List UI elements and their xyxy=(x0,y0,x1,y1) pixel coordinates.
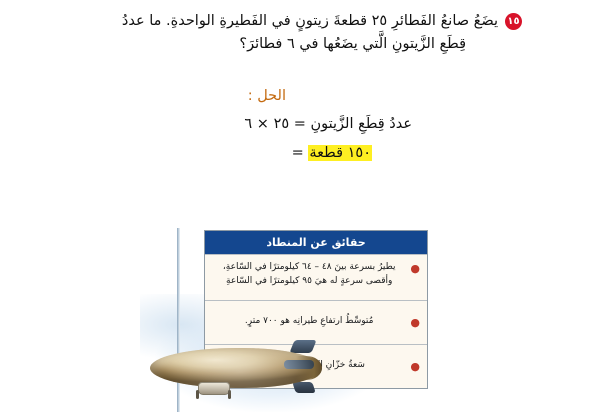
airship-fin-top xyxy=(289,340,316,353)
facts-panel-header: حقائق عن المنطاد xyxy=(205,231,427,254)
problem-line-2: قِطَعِ الزَّيتونِ الَّتي يضَعُها في ٦ فط… xyxy=(74,33,522,56)
problem-line-1: ١٥ يضَعُ صانعُ الفَطائرِ ٢٥ قطعةَ زيتونٍ… xyxy=(74,10,522,33)
problem-statement: ١٥ يضَعُ صانعُ الفَطائرِ ٢٥ قطعةَ زيتونٍ… xyxy=(74,10,522,57)
bullet-dot-icon: ● xyxy=(410,262,420,277)
airship-icon xyxy=(146,340,336,402)
airship-gondola xyxy=(198,382,230,395)
solution-equation-1: عددُ قِطَعِ الزَّيتونِ = ٢٥ × ٦ xyxy=(74,108,522,141)
problem-line-2-text: قِطَعِ الزَّيتونِ الَّتي يضَعُها في ٦ فط… xyxy=(239,33,466,56)
airship-fin-bottom xyxy=(292,382,316,393)
airship-propeller-left xyxy=(196,390,199,399)
solution-equals-sign: = xyxy=(292,145,304,161)
bullet-dot-icon: ● xyxy=(410,316,420,331)
solution-block: الحل : عددُ قِطَعِ الزَّيتونِ = ٢٥ × ٦ ١… xyxy=(74,86,522,168)
airship-fin-side xyxy=(284,360,314,369)
solution-equation-2: ١٥٠ قطعة = xyxy=(74,140,522,168)
fact-row: ● يطيرُ بسرعة بينَ ٤٨ – ٦٤ كيلومترًا في … xyxy=(205,254,427,300)
bullet-dot-icon: ● xyxy=(410,360,420,375)
fact-text: مُتوسِّطُ ارتفاعِ طيرانِه هو ٧٠٠ مترٍ. xyxy=(212,315,406,329)
problem-line-1-text: يضَعُ صانعُ الفَطائرِ ٢٥ قطعةَ زيتونٍ في… xyxy=(122,10,498,33)
solution-result-highlight: ١٥٠ قطعة xyxy=(308,145,372,161)
problem-number-badge: ١٥ xyxy=(505,13,522,30)
solution-label: الحل : xyxy=(74,86,522,108)
fact-text: يطيرُ بسرعة بينَ ٤٨ – ٦٤ كيلومترًا في ال… xyxy=(212,261,406,288)
figure-airship-facts: حقائق عن المنطاد ● يطيرُ بسرعة بينَ ٤٨ –… xyxy=(176,228,432,412)
fact-row: ● مُتوسِّطُ ارتفاعِ طيرانِه هو ٧٠٠ مترٍ. xyxy=(205,300,427,344)
airship-propeller-right xyxy=(228,390,231,399)
